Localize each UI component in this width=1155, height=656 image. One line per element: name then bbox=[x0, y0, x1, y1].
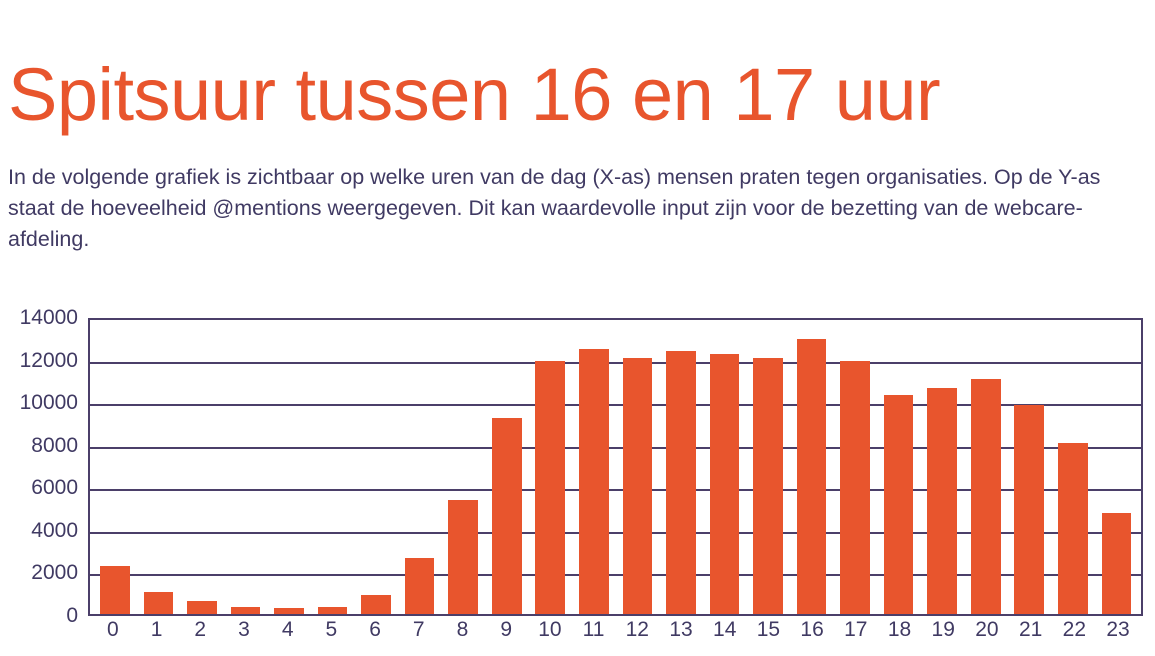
bar-slot bbox=[746, 320, 790, 614]
x-tick-label: 19 bbox=[921, 618, 965, 642]
bars-container bbox=[90, 320, 1141, 614]
y-tick-label: 6000 bbox=[0, 476, 78, 500]
bar[interactable] bbox=[361, 595, 391, 614]
bar-slot bbox=[485, 320, 529, 614]
bar-slot bbox=[877, 320, 921, 614]
x-tick-label: 4 bbox=[266, 618, 310, 642]
bar[interactable] bbox=[405, 558, 435, 614]
bar-slot bbox=[1051, 320, 1095, 614]
bar[interactable] bbox=[840, 361, 870, 614]
bar[interactable] bbox=[884, 395, 914, 614]
page-title: Spitsuur tussen 16 en 17 uur bbox=[8, 56, 940, 134]
bar-slot bbox=[398, 320, 442, 614]
intro-paragraph: In de volgende grafiek is zichtbaar op w… bbox=[8, 162, 1128, 255]
y-tick-label: 4000 bbox=[0, 519, 78, 543]
bar-slot bbox=[572, 320, 616, 614]
x-axis: 01234567891011121314151617181920212223 bbox=[88, 618, 1143, 642]
bar[interactable] bbox=[144, 592, 174, 614]
x-tick-label: 18 bbox=[878, 618, 922, 642]
x-tick-label: 2 bbox=[178, 618, 222, 642]
bar[interactable] bbox=[1014, 405, 1044, 614]
bar-slot bbox=[354, 320, 398, 614]
bar[interactable] bbox=[100, 566, 130, 614]
bar[interactable] bbox=[448, 500, 478, 614]
bar-slot bbox=[441, 320, 485, 614]
bar[interactable] bbox=[492, 418, 522, 614]
y-tick-label: 10000 bbox=[0, 391, 78, 415]
bar-slot bbox=[528, 320, 572, 614]
x-tick-label: 9 bbox=[484, 618, 528, 642]
x-tick-label: 16 bbox=[790, 618, 834, 642]
bar-slot bbox=[833, 320, 877, 614]
bar[interactable] bbox=[710, 354, 740, 614]
bar[interactable] bbox=[797, 339, 827, 614]
bar[interactable] bbox=[187, 601, 217, 614]
x-tick-label: 0 bbox=[91, 618, 135, 642]
x-tick-label: 8 bbox=[441, 618, 485, 642]
bar-slot bbox=[311, 320, 355, 614]
bar[interactable] bbox=[579, 349, 609, 614]
bar[interactable] bbox=[318, 607, 348, 614]
bar[interactable] bbox=[971, 379, 1001, 614]
bar-slot bbox=[616, 320, 660, 614]
bar-slot bbox=[224, 320, 268, 614]
bar-slot bbox=[659, 320, 703, 614]
y-tick-label: 0 bbox=[0, 604, 78, 628]
y-tick-label: 14000 bbox=[0, 306, 78, 330]
bar[interactable] bbox=[535, 361, 565, 614]
y-axis: 02000400060008000100001200014000 bbox=[0, 300, 78, 626]
x-tick-label: 10 bbox=[528, 618, 572, 642]
x-tick-label: 14 bbox=[703, 618, 747, 642]
x-tick-label: 5 bbox=[310, 618, 354, 642]
bar-slot bbox=[1095, 320, 1139, 614]
x-tick-label: 6 bbox=[353, 618, 397, 642]
x-tick-label: 7 bbox=[397, 618, 441, 642]
x-tick-label: 22 bbox=[1052, 618, 1096, 642]
x-tick-label: 11 bbox=[572, 618, 616, 642]
bar-slot bbox=[920, 320, 964, 614]
bar-slot bbox=[790, 320, 834, 614]
plot-area bbox=[88, 318, 1143, 616]
bar[interactable] bbox=[1058, 443, 1088, 614]
bar[interactable] bbox=[274, 608, 304, 614]
bar-slot bbox=[1007, 320, 1051, 614]
x-tick-label: 1 bbox=[135, 618, 179, 642]
y-tick-label: 12000 bbox=[0, 349, 78, 373]
y-tick-label: 8000 bbox=[0, 434, 78, 458]
x-tick-label: 3 bbox=[222, 618, 266, 642]
x-tick-label: 13 bbox=[659, 618, 703, 642]
bar[interactable] bbox=[753, 358, 783, 614]
x-tick-label: 23 bbox=[1096, 618, 1140, 642]
bar-slot bbox=[180, 320, 224, 614]
x-tick-label: 20 bbox=[965, 618, 1009, 642]
bar-slot bbox=[137, 320, 181, 614]
bar-slot bbox=[703, 320, 747, 614]
bar-slot bbox=[964, 320, 1008, 614]
bar-slot bbox=[267, 320, 311, 614]
y-tick-label: 2000 bbox=[0, 561, 78, 585]
bar-slot bbox=[93, 320, 137, 614]
page-root: Spitsuur tussen 16 en 17 uur In de volge… bbox=[0, 0, 1155, 656]
bar[interactable] bbox=[1102, 513, 1132, 614]
x-tick-label: 17 bbox=[834, 618, 878, 642]
x-tick-label: 15 bbox=[747, 618, 791, 642]
bar[interactable] bbox=[623, 358, 653, 614]
x-tick-label: 12 bbox=[615, 618, 659, 642]
bar[interactable] bbox=[927, 388, 957, 614]
bar[interactable] bbox=[666, 351, 696, 614]
bar[interactable] bbox=[231, 607, 261, 614]
x-tick-label: 21 bbox=[1009, 618, 1053, 642]
bar-chart: 02000400060008000100001200014000 0123456… bbox=[0, 300, 1155, 656]
